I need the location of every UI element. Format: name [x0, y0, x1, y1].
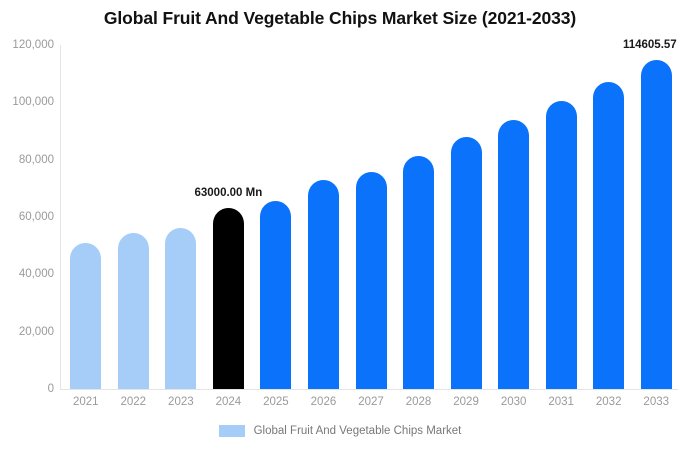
x-axis-tick-label: 2021 [73, 396, 99, 408]
bar-2032[interactable] [593, 82, 624, 389]
x-axis-tick-label: 2032 [596, 396, 622, 408]
bar-2033[interactable] [641, 60, 672, 389]
x-axis-tick-label: 2027 [358, 396, 384, 408]
legend-swatch-icon [219, 425, 245, 437]
x-axis-tick-label: 2023 [168, 396, 194, 408]
y-axis: 020,00040,00060,00080,000100,000120,000 [0, 0, 54, 450]
x-axis-tick-label: 2026 [311, 396, 337, 408]
x-axis-tick-label: 2030 [501, 396, 527, 408]
bar-2021[interactable] [70, 243, 101, 389]
x-axis-tick-label: 2022 [121, 396, 147, 408]
data-label-2024: 63000.00 Mn [194, 187, 262, 199]
data-label-2033: 114605.57 M [623, 39, 680, 51]
bar-2030[interactable] [498, 120, 529, 389]
x-axis-tick-label: 2024 [216, 396, 242, 408]
x-axis-tick-label: 2028 [406, 396, 432, 408]
bar-2026[interactable] [308, 180, 339, 389]
y-axis-tick-label: 80,000 [2, 154, 54, 166]
y-axis-tick-label: 100,000 [2, 96, 54, 108]
bar-2022[interactable] [118, 233, 149, 389]
y-axis-tick-label: 120,000 [2, 39, 54, 51]
plot-area [60, 45, 678, 389]
y-axis-tick-label: 40,000 [2, 268, 54, 280]
x-axis-tick-label: 2033 [643, 396, 669, 408]
bar-2025[interactable] [260, 201, 291, 389]
x-axis-tick-label: 2031 [548, 396, 574, 408]
bars-layer [60, 45, 678, 389]
bar-2028[interactable] [403, 156, 434, 389]
y-axis-tick-label: 60,000 [2, 211, 54, 223]
chart-title: Global Fruit And Vegetable Chips Market … [0, 8, 680, 29]
x-axis-tick-label: 2025 [263, 396, 289, 408]
legend: Global Fruit And Vegetable Chips Market [0, 425, 680, 437]
legend-item-label: Global Fruit And Vegetable Chips Market [254, 425, 462, 437]
x-axis-line [60, 389, 678, 390]
bar-2031[interactable] [546, 101, 577, 389]
y-axis-tick-label: 0 [2, 383, 54, 395]
bar-2029[interactable] [451, 137, 482, 389]
x-axis-tick-label: 2029 [453, 396, 479, 408]
bar-chart: Global Fruit And Vegetable Chips Market … [0, 0, 680, 450]
bar-2023[interactable] [165, 228, 196, 389]
bar-2027[interactable] [356, 172, 387, 389]
bar-2024[interactable] [213, 208, 244, 389]
y-axis-tick-label: 20,000 [2, 326, 54, 338]
